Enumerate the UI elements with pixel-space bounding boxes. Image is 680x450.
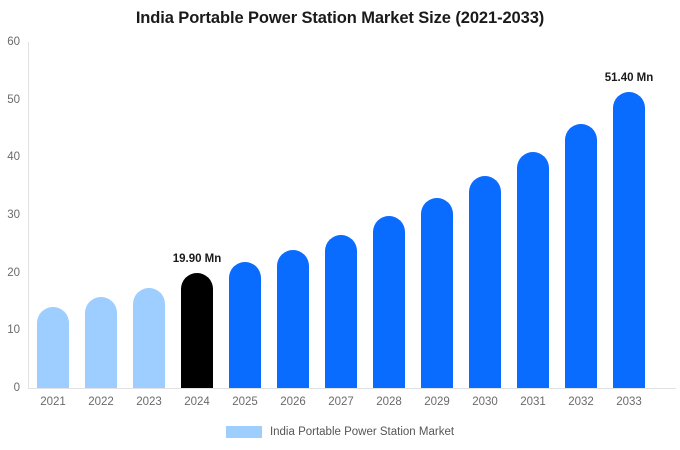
bar[interactable] (229, 262, 261, 388)
bar-group[interactable] (229, 42, 261, 388)
bar-group[interactable] (85, 42, 117, 388)
bar[interactable] (613, 92, 645, 388)
x-axis-tick-label: 2032 (568, 396, 594, 408)
bar-group[interactable] (421, 42, 453, 388)
chart-legend: India Portable Power Station Market (0, 426, 680, 438)
bar[interactable] (565, 124, 597, 388)
bars-layer: 19.90 Mn51.40 Mn (28, 42, 676, 388)
bar-group[interactable] (565, 42, 597, 388)
bar-group[interactable]: 51.40 Mn (613, 42, 645, 388)
bar-group[interactable]: 19.90 Mn (181, 42, 213, 388)
x-axis-tick-label: 2027 (328, 396, 354, 408)
bar-group[interactable] (133, 42, 165, 388)
bar[interactable] (469, 176, 501, 388)
y-axis-tick-label: 50 (7, 94, 20, 106)
bar[interactable] (277, 250, 309, 388)
y-axis-tick-label: 30 (7, 209, 20, 221)
plot-area: 0102030405060 19.90 Mn51.40 Mn (28, 42, 676, 388)
bar[interactable] (181, 273, 213, 388)
bar[interactable] (421, 198, 453, 388)
bar-group[interactable] (325, 42, 357, 388)
legend-label: India Portable Power Station Market (270, 426, 454, 438)
x-axis-tick-label: 2026 (280, 396, 306, 408)
bar-value-label: 19.90 Mn (173, 253, 222, 265)
y-axis-tick-label: 10 (7, 324, 20, 336)
x-axis-tick-label: 2024 (184, 396, 210, 408)
x-axis-tick-label: 2023 (136, 396, 162, 408)
x-axis-line (28, 388, 676, 389)
bar[interactable] (37, 307, 69, 388)
legend-swatch (226, 426, 262, 438)
legend-item[interactable]: India Portable Power Station Market (226, 426, 454, 438)
x-axis-tick-label: 2031 (520, 396, 546, 408)
bar[interactable] (85, 297, 117, 388)
y-axis-tick-label: 20 (7, 267, 20, 279)
y-axis-tick-label: 40 (7, 151, 20, 163)
chart-container: India Portable Power Station Market Size… (0, 0, 680, 450)
x-axis-tick-label: 2022 (88, 396, 114, 408)
bar-group[interactable] (37, 42, 69, 388)
x-axis-tick-label: 2021 (40, 396, 66, 408)
x-axis-tick-labels: 2021202220232024202520262027202820292030… (28, 396, 676, 416)
bar-group[interactable] (469, 42, 501, 388)
x-axis-tick-label: 2025 (232, 396, 258, 408)
bar-group[interactable] (373, 42, 405, 388)
y-axis-tick-label: 0 (14, 382, 20, 394)
bar-value-label: 51.40 Mn (605, 72, 654, 84)
bar[interactable] (133, 288, 165, 388)
bar-group[interactable] (277, 42, 309, 388)
bar[interactable] (325, 235, 357, 388)
chart-title: India Portable Power Station Market Size… (0, 9, 680, 28)
x-axis-tick-label: 2030 (472, 396, 498, 408)
bar-group[interactable] (517, 42, 549, 388)
bar[interactable] (373, 216, 405, 388)
y-axis-tick-label: 60 (7, 36, 20, 48)
x-axis-tick-label: 2033 (616, 396, 642, 408)
x-axis-tick-label: 2029 (424, 396, 450, 408)
x-axis-tick-label: 2028 (376, 396, 402, 408)
bar[interactable] (517, 152, 549, 388)
